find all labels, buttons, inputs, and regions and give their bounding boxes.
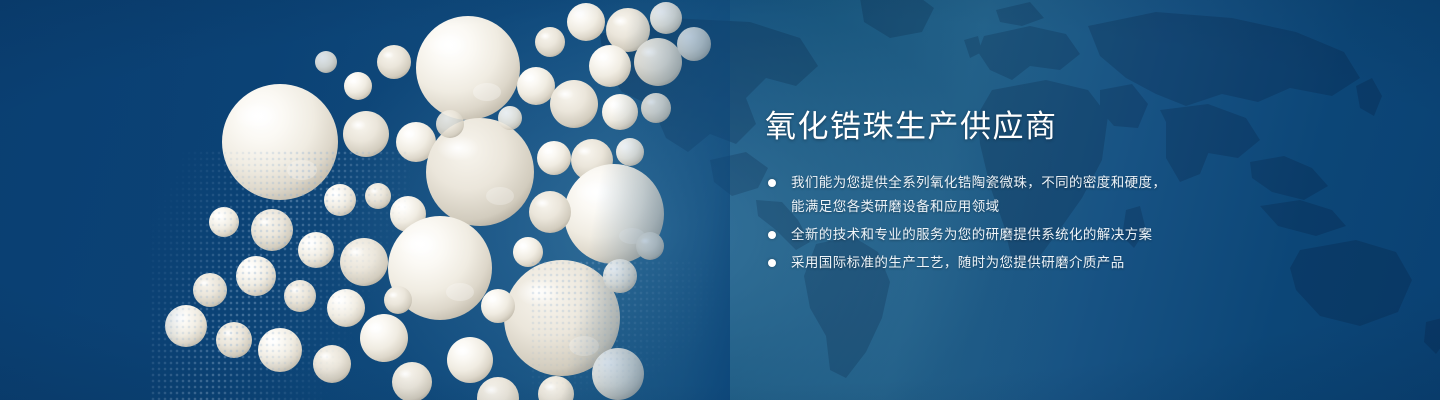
- feature-item-1-line-2: 能满足您各类研磨设备和应用领域: [791, 195, 1285, 219]
- feature-item-3-line-1: 采用国际标准的生产工艺，随时为您提供研磨介质产品: [791, 251, 1285, 275]
- feature-item-2-line-1: 全新的技术和专业的服务为您的研磨提供系统化的解决方案: [791, 223, 1285, 247]
- bullet-dot-icon: [768, 179, 776, 187]
- bullet-dot-icon: [768, 231, 776, 239]
- feature-item-1-line-1: 我们能为您提供全系列氧化锆陶瓷微珠，不同的密度和硬度，: [791, 171, 1285, 195]
- banner-headline: 氧化锆珠生产供应商: [765, 108, 1285, 145]
- banner-copy: 氧化锆珠生产供应商 我们能为您提供全系列氧化锆陶瓷微珠，不同的密度和硬度， 能满…: [765, 108, 1285, 279]
- feature-item-2: 全新的技术和专业的服务为您的研磨提供系统化的解决方案: [765, 223, 1285, 247]
- banner-feature-list: 我们能为您提供全系列氧化锆陶瓷微珠，不同的密度和硬度， 能满足您各类研磨设备和应…: [765, 171, 1285, 275]
- feature-item-3: 采用国际标准的生产工艺，随时为您提供研磨介质产品: [765, 251, 1285, 275]
- bullet-dot-icon: [768, 259, 776, 267]
- hero-banner: 氧化锆珠生产供应商 我们能为您提供全系列氧化锆陶瓷微珠，不同的密度和硬度， 能满…: [0, 0, 1440, 400]
- feature-item-1: 我们能为您提供全系列氧化锆陶瓷微珠，不同的密度和硬度， 能满足您各类研磨设备和应…: [765, 171, 1285, 219]
